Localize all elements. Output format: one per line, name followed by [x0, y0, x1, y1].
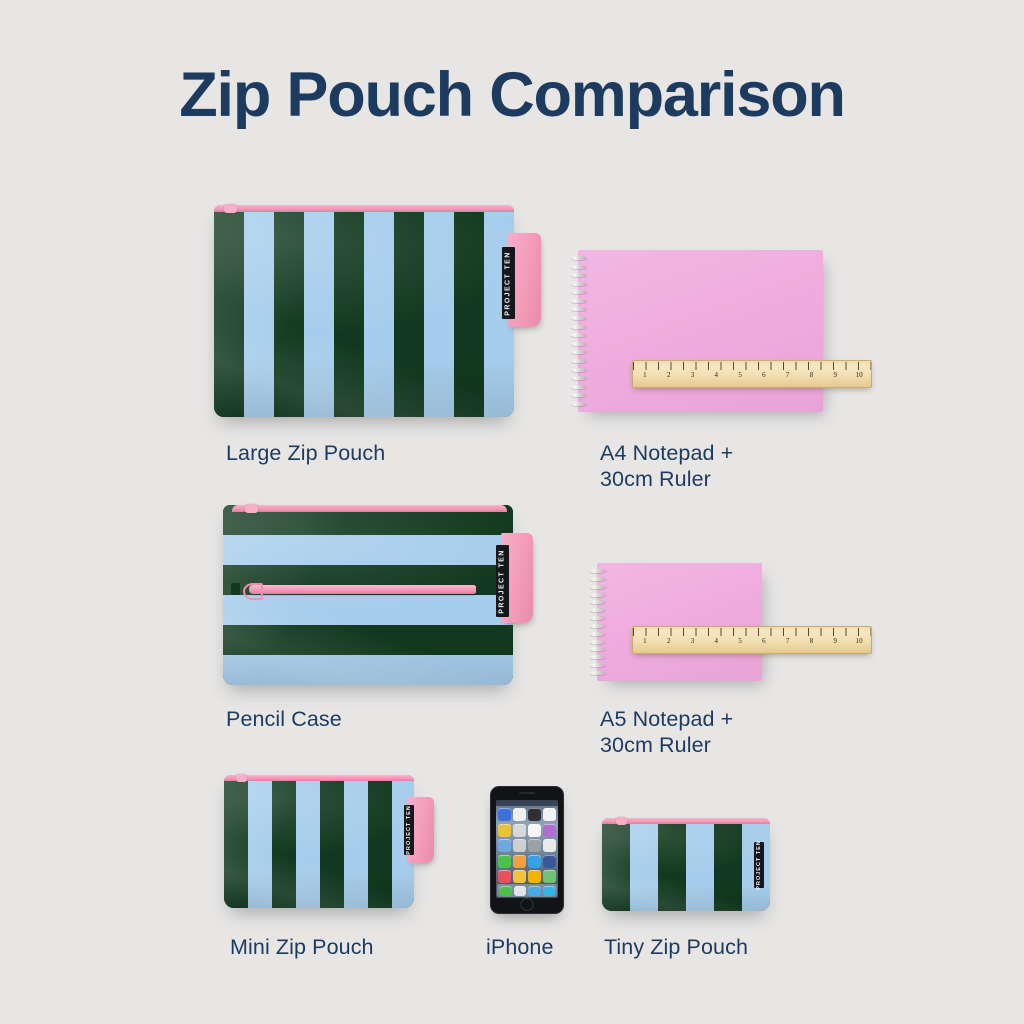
spiral-binding — [571, 256, 587, 406]
spiral-coil — [590, 600, 606, 604]
spiral-coil — [590, 647, 606, 651]
stripe-pattern — [224, 775, 414, 908]
spiral-coil — [571, 402, 587, 406]
zipper-top — [214, 205, 514, 212]
spiral-coil — [571, 299, 587, 303]
ruler-number: 2 — [657, 371, 681, 379]
caption-large-zip-pouch: Large Zip Pouch — [226, 440, 526, 466]
app-icon[interactable] — [528, 808, 541, 821]
spiral-binding — [590, 569, 606, 675]
stripe-pattern — [602, 818, 770, 911]
spiral-coil — [571, 385, 587, 389]
spiral-coil — [571, 333, 587, 337]
brand-tag: PROJECT TEN — [502, 247, 515, 319]
spiral-coil — [571, 350, 587, 354]
app-grid — [498, 808, 556, 883]
ruler-number: 7 — [776, 371, 800, 379]
app-icon[interactable] — [543, 870, 556, 883]
zipper-slider — [236, 774, 247, 782]
spiral-coil — [590, 569, 606, 573]
app-icon[interactable] — [513, 839, 526, 852]
comparison-poster: Zip Pouch Comparison PROJECT TEN Large Z… — [0, 0, 1024, 1024]
ruler-number: 3 — [681, 637, 705, 645]
ruler-a5: 1 2 3 4 5 6 7 8 9 10 — [632, 626, 872, 654]
spiral-coil — [590, 624, 606, 628]
dock-icon-music[interactable] — [543, 886, 556, 896]
pouch-body — [224, 775, 414, 908]
ruler-numbers: 1 2 3 4 5 6 7 8 9 10 — [633, 636, 871, 645]
caption-tiny-zip-pouch: Tiny Zip Pouch — [604, 934, 804, 960]
earpiece-speaker — [519, 792, 535, 794]
large-zip-pouch: PROJECT TEN — [214, 205, 514, 417]
stripe-pattern — [223, 505, 513, 685]
ruler-number: 2 — [657, 637, 681, 645]
app-icon[interactable] — [528, 824, 541, 837]
pouch-body — [223, 505, 513, 685]
ruler-number: 6 — [752, 637, 776, 645]
app-icon[interactable] — [498, 808, 511, 821]
zipper-top — [224, 775, 414, 781]
spiral-coil — [571, 376, 587, 380]
iphone — [490, 786, 564, 914]
spiral-coil — [590, 671, 606, 675]
zipper-slider — [245, 504, 258, 513]
spiral-coil — [571, 282, 587, 286]
pencil-case: PROJECT TEN — [223, 505, 513, 685]
ruler-number: 3 — [681, 371, 705, 379]
spiral-coil — [590, 663, 606, 667]
ruler-number: 10 — [847, 371, 871, 379]
app-icon[interactable] — [498, 824, 511, 837]
app-icon[interactable] — [543, 824, 556, 837]
app-icon[interactable] — [528, 855, 541, 868]
spiral-coil — [571, 342, 587, 346]
home-button-icon[interactable] — [521, 898, 534, 911]
spiral-coil — [571, 393, 587, 397]
zipper-top — [602, 818, 770, 824]
tiny-zip-pouch: PROJECT TEN — [602, 818, 770, 911]
front-pocket-zipper — [249, 585, 477, 594]
app-icon[interactable] — [513, 808, 526, 821]
zipper-slider — [224, 204, 237, 213]
mini-zip-pouch: PROJECT TEN — [224, 775, 414, 908]
ruler-number: 5 — [728, 637, 752, 645]
app-icon[interactable] — [513, 824, 526, 837]
app-icon[interactable] — [543, 839, 556, 852]
spiral-coil — [590, 585, 606, 589]
caption-a5-notepad-ruler: A5 Notepad + 30cm Ruler — [600, 706, 860, 758]
ruler-number: 8 — [800, 371, 824, 379]
pouch-body — [214, 205, 514, 417]
dock-icon-mail[interactable] — [514, 886, 527, 896]
app-icon[interactable] — [498, 839, 511, 852]
ruler-number: 9 — [823, 371, 847, 379]
caption-mini-zip-pouch: Mini Zip Pouch — [230, 934, 430, 960]
zipper-slider — [616, 817, 627, 825]
ruler-number: 6 — [752, 371, 776, 379]
ruler-number: 8 — [800, 637, 824, 645]
ruler-number: 9 — [823, 637, 847, 645]
ruler-number: 7 — [776, 637, 800, 645]
spiral-coil — [590, 632, 606, 636]
spiral-coil — [571, 307, 587, 311]
front-zip-stop-left — [231, 583, 240, 595]
a5-notepad — [597, 563, 762, 681]
spiral-coil — [571, 290, 587, 294]
app-icon[interactable] — [528, 839, 541, 852]
spiral-coil — [590, 655, 606, 659]
spiral-coil — [590, 640, 606, 644]
ruler-number: 4 — [704, 637, 728, 645]
pouch-body — [602, 818, 770, 911]
spiral-coil — [590, 608, 606, 612]
app-icon[interactable] — [528, 870, 541, 883]
caption-pencil-case: Pencil Case — [226, 706, 506, 732]
ruler-number: 1 — [633, 371, 657, 379]
spiral-coil — [571, 265, 587, 269]
app-icon[interactable] — [543, 855, 556, 868]
brand-tag: PROJECT TEN — [754, 842, 764, 888]
ruler-a4: 1 2 3 4 5 6 7 8 9 10 — [632, 360, 872, 388]
caption-iphone: iPhone — [486, 934, 606, 960]
brand-tag-text: PROJECT TEN — [756, 840, 762, 890]
spiral-coil — [590, 593, 606, 597]
ruler-numbers: 1 2 3 4 5 6 7 8 9 10 — [633, 370, 871, 379]
stripe-pattern — [214, 205, 514, 417]
app-icon[interactable] — [498, 870, 511, 883]
page-title: Zip Pouch Comparison — [0, 62, 1024, 128]
spiral-coil — [571, 256, 587, 260]
app-icon[interactable] — [543, 808, 556, 821]
spiral-coil — [590, 577, 606, 581]
front-zip-stop-right — [476, 583, 485, 595]
brand-tag-text: PROJECT TEN — [406, 805, 412, 855]
phone-screen — [496, 800, 558, 898]
ruler-number: 10 — [847, 637, 871, 645]
caption-a4-notepad-ruler: A4 Notepad + 30cm Ruler — [600, 440, 860, 492]
brand-tag: PROJECT TEN — [496, 545, 509, 617]
dock-icon-safari[interactable] — [528, 886, 541, 896]
app-icon[interactable] — [513, 855, 526, 868]
spiral-coil — [571, 359, 587, 363]
brand-tag-text: PROJECT TEN — [499, 549, 506, 613]
app-icon[interactable] — [513, 870, 526, 883]
front-zip-puller — [243, 583, 263, 600]
ruler-number: 1 — [633, 637, 657, 645]
spiral-coil — [571, 325, 587, 329]
app-icon[interactable] — [498, 855, 511, 868]
brand-tag-text: PROJECT TEN — [505, 251, 512, 315]
notepad-page — [597, 563, 762, 681]
spiral-coil — [571, 273, 587, 277]
spiral-coil — [571, 368, 587, 372]
spiral-coil — [571, 316, 587, 320]
phone-dock — [497, 884, 557, 897]
brand-tag: PROJECT TEN — [404, 805, 414, 855]
zipper-top — [232, 505, 508, 512]
ruler-number: 4 — [704, 371, 728, 379]
status-bar — [496, 800, 558, 806]
spiral-coil — [590, 616, 606, 620]
dock-icon-phone[interactable] — [499, 886, 512, 896]
ruler-number: 5 — [728, 371, 752, 379]
